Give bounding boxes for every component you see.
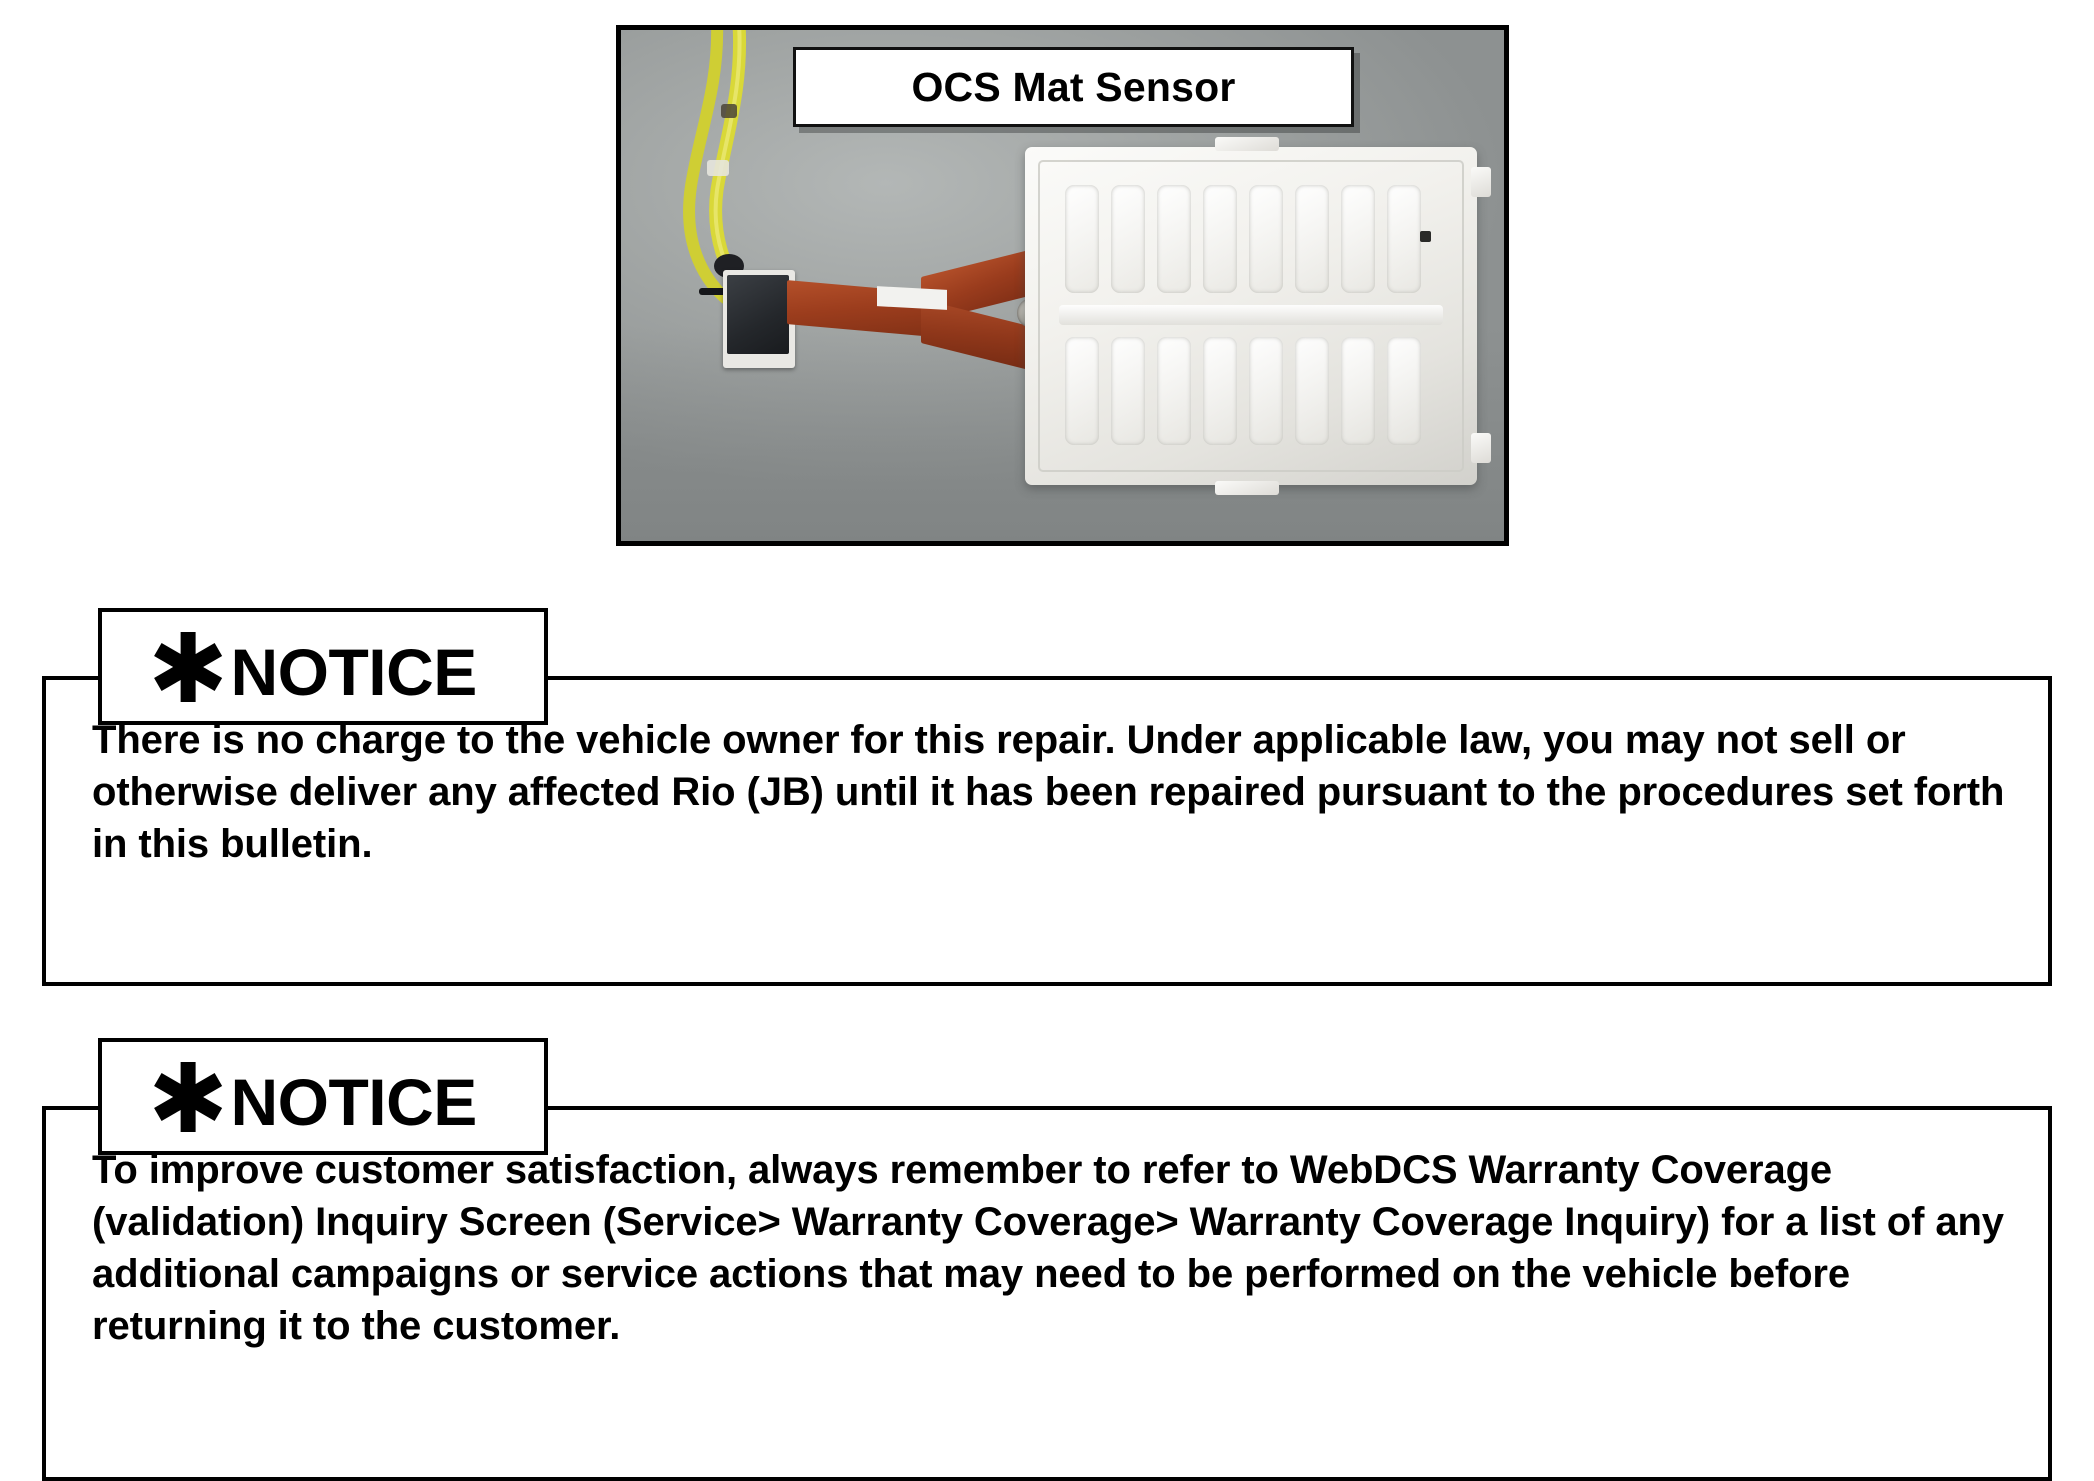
sensor-connector-face <box>727 275 789 354</box>
notice-body-text-2: To improve customer satisfaction, always… <box>92 1144 2008 1352</box>
mat-tab-top-middle <box>1215 137 1279 151</box>
mat-cell <box>1111 185 1145 293</box>
notice-label-1: NOTICE <box>230 639 476 705</box>
mat-tab-bottom-right <box>1471 433 1491 463</box>
mat-cell <box>1157 185 1191 293</box>
figure-caption-text: OCS Mat Sensor <box>911 64 1235 111</box>
notice-body-2: To improve customer satisfaction, always… <box>42 1106 2052 1481</box>
mat-tab-top-right <box>1471 167 1491 197</box>
mat-cell <box>1203 185 1237 293</box>
figure-caption-box: OCS Mat Sensor <box>793 47 1354 127</box>
ribbon-cable-label <box>877 286 947 310</box>
mat-cell <box>1249 337 1283 445</box>
ocs-mat-bladder <box>1025 147 1477 485</box>
notice-label-2: NOTICE <box>230 1069 476 1135</box>
notice-block-1: There is no charge to the vehicle owner … <box>42 608 2052 986</box>
mat-cell <box>1065 337 1099 445</box>
mat-cell <box>1157 337 1191 445</box>
notice-body-text-1: There is no charge to the vehicle owner … <box>92 714 2008 870</box>
notice-header-2: ✱ NOTICE <box>98 1038 548 1155</box>
sensor-connector-housing <box>723 270 795 368</box>
notice-header-1: ✱ NOTICE <box>98 608 548 725</box>
mat-cell <box>1341 337 1375 445</box>
mat-reference-marker <box>1420 231 1431 242</box>
mat-tab-bottom-middle <box>1215 481 1279 495</box>
notice-block-2: To improve customer satisfaction, always… <box>42 1038 2052 1481</box>
mat-cell <box>1295 337 1329 445</box>
mat-cell <box>1341 185 1375 293</box>
mat-cell <box>1065 185 1099 293</box>
mat-center-channel <box>1059 305 1443 325</box>
mat-cell <box>1387 185 1421 293</box>
mat-cell <box>1111 337 1145 445</box>
mat-cell <box>1203 337 1237 445</box>
asterisk-icon: ✱ <box>148 636 228 703</box>
mat-cell <box>1387 337 1421 445</box>
mat-cell <box>1295 185 1329 293</box>
mat-cell <box>1249 185 1283 293</box>
asterisk-icon: ✱ <box>148 1066 228 1133</box>
